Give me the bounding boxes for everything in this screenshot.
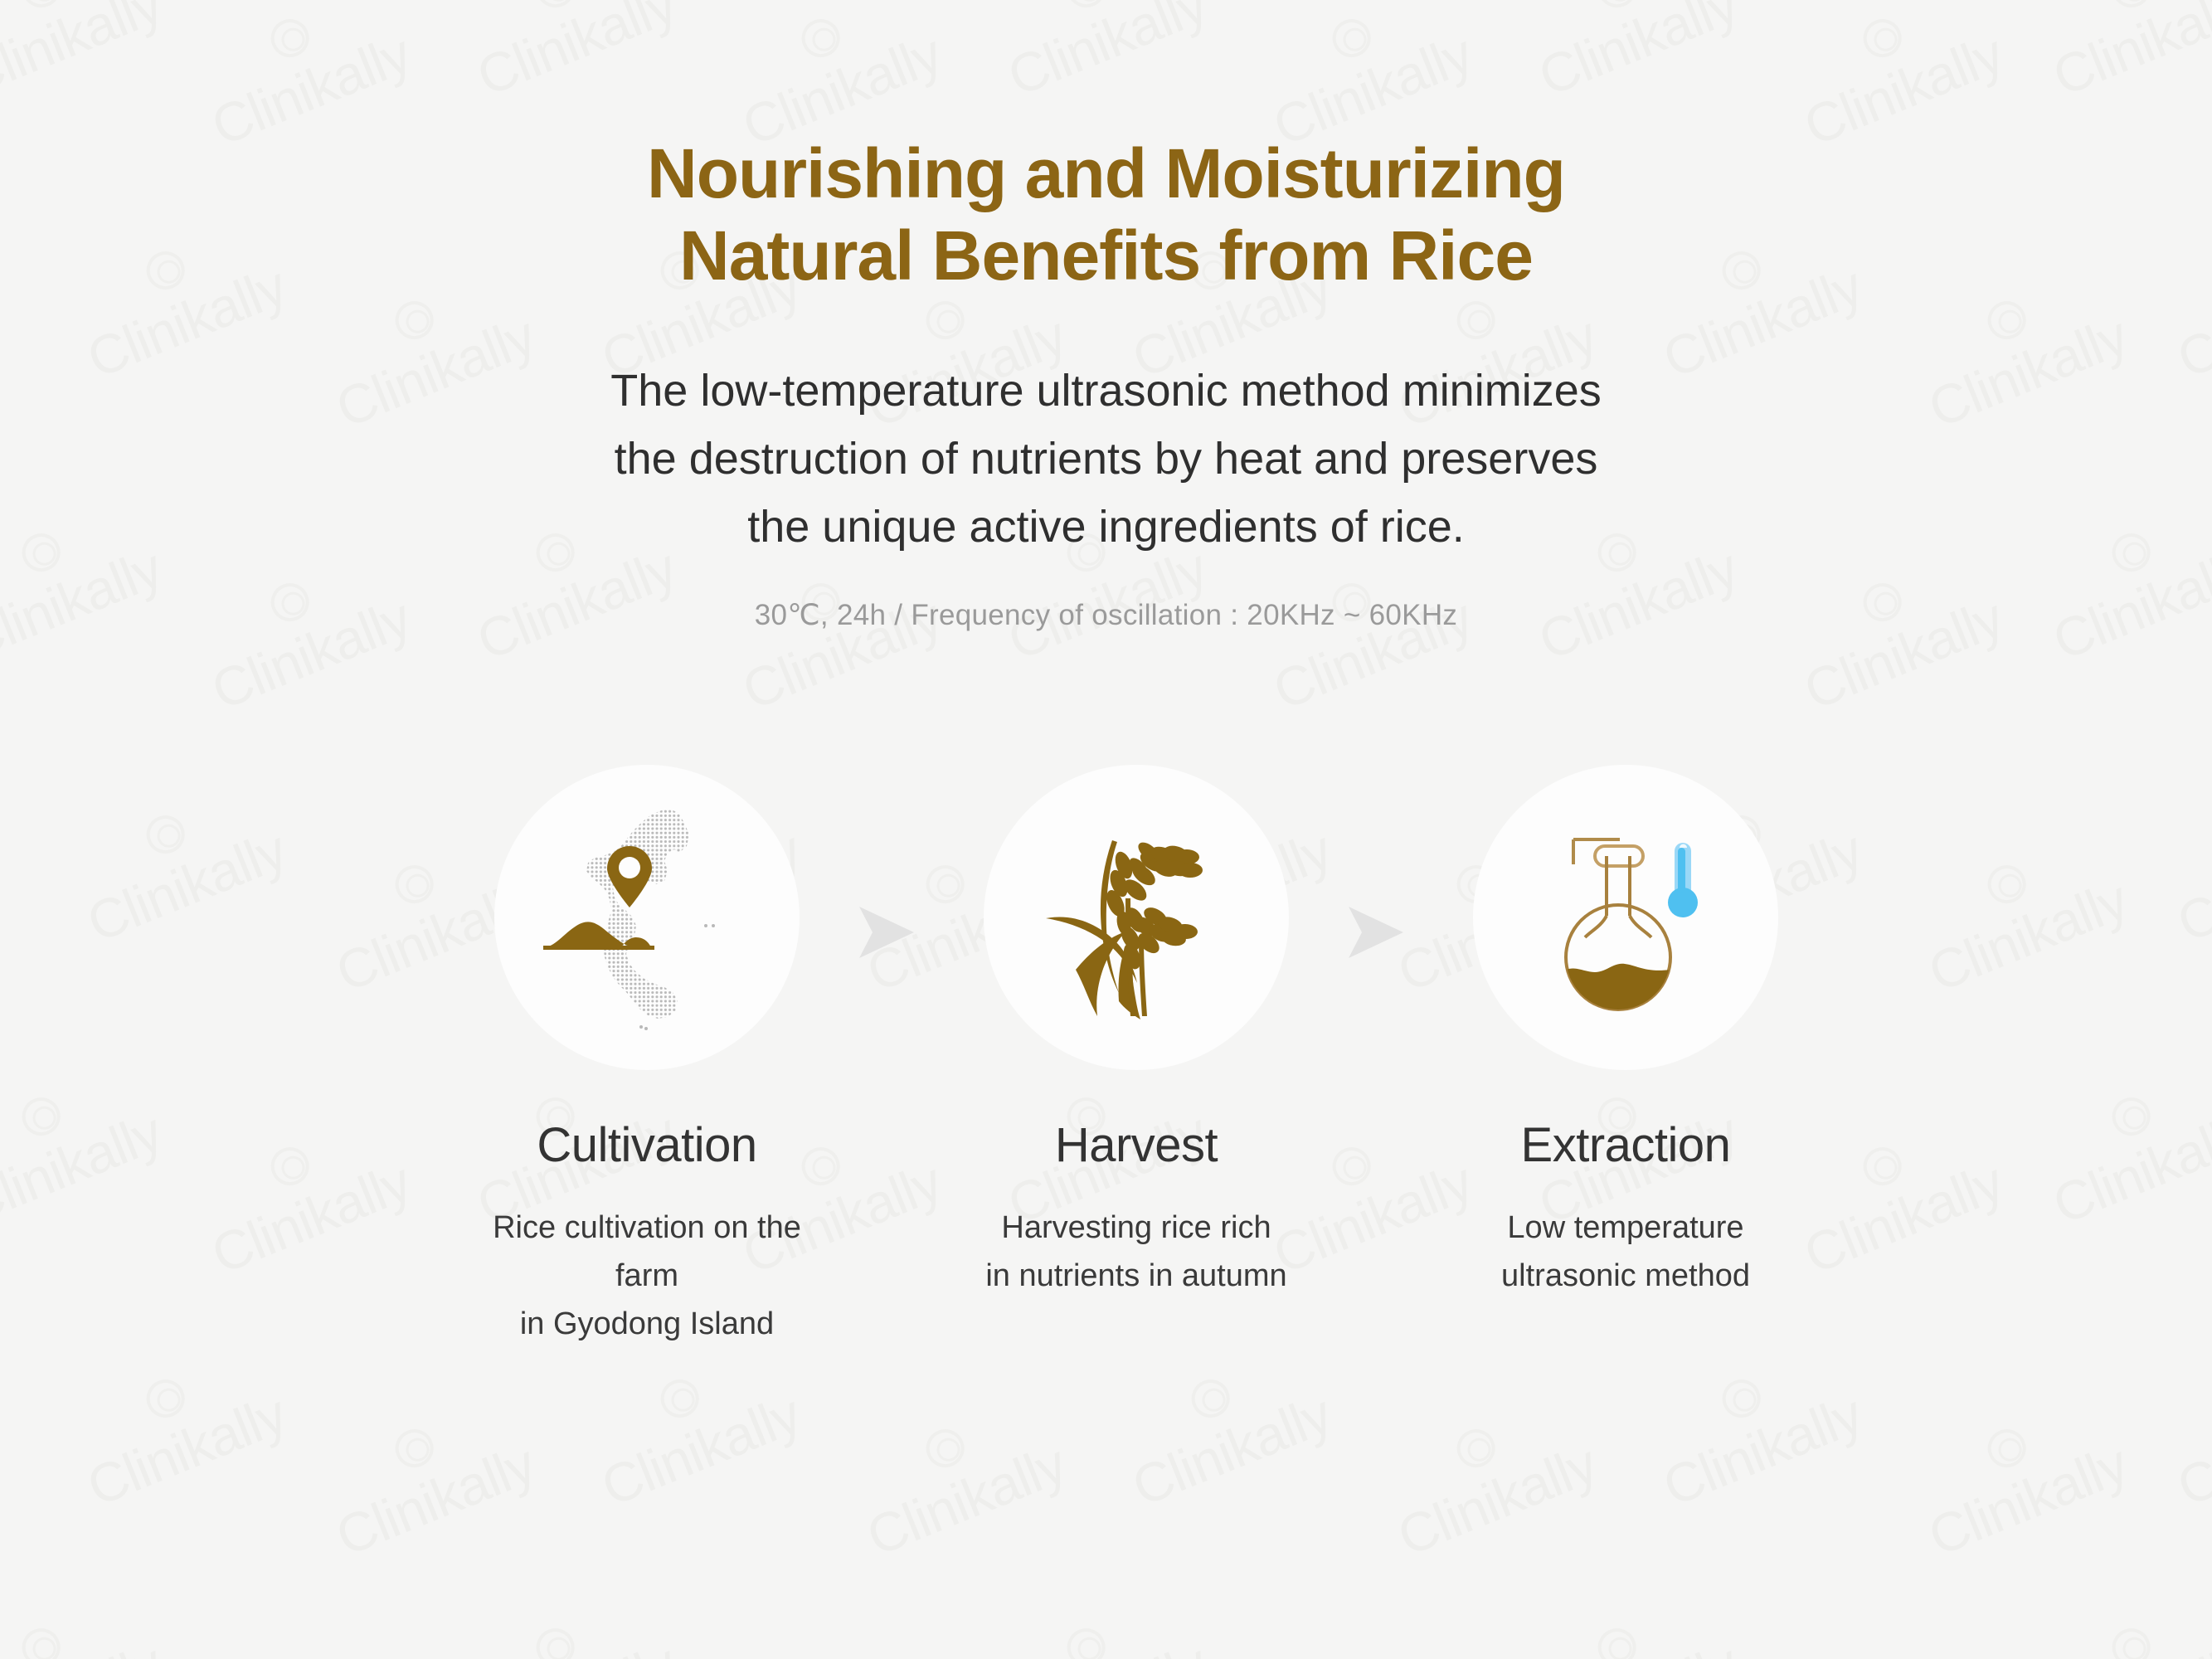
process-steps: Cultivation Rice cultivation on the farm… xyxy=(0,747,2212,1394)
step-description: Harvesting rice rich in nutrients in aut… xyxy=(954,1204,1319,1301)
step-description-line-2: in nutrients in autumn xyxy=(954,1253,1319,1301)
step-title: Extraction xyxy=(1443,1121,1808,1170)
process-spec-note: 30℃, 24h / Frequency of oscillation : 20… xyxy=(0,599,2212,632)
step-description: Rice cultivation on the farm in Gyodong … xyxy=(464,1204,829,1348)
korea-map-pin-icon xyxy=(543,801,751,1034)
step-icon-circle xyxy=(494,765,800,1070)
step-description-line-1: Harvesting rice rich xyxy=(954,1204,1319,1253)
step-description-line-2: ultrasonic method xyxy=(1443,1253,1808,1301)
page-description-line-2: the destruction of nutrients by heat and… xyxy=(0,425,2212,493)
step-title: Harvest xyxy=(954,1121,1319,1170)
step-title: Cultivation xyxy=(464,1121,829,1170)
step-description: Low temperature ultrasonic method xyxy=(1443,1204,1808,1301)
page-title-line-2: Natural Benefits from Rice xyxy=(0,215,2212,297)
infographic-page: ClinikallyClinikallyClinikallyClinikally… xyxy=(0,0,2212,1659)
rice-stalk-icon xyxy=(1033,814,1240,1021)
process-step-extraction: Extraction Low temperature ultrasonic me… xyxy=(1443,747,1808,1301)
page-title-line-1: Nourishing and Moisturizing xyxy=(0,133,2212,215)
content-root: Nourishing and Moisturizing Natural Bene… xyxy=(0,0,2212,1659)
step-icon-circle xyxy=(984,765,1289,1070)
page-description-line-3: the unique active ingredients of rice. xyxy=(0,493,2212,561)
page-description-line-1: The low-temperature ultrasonic method mi… xyxy=(0,357,2212,425)
page-title: Nourishing and Moisturizing Natural Bene… xyxy=(0,133,2212,297)
step-description-line-2: in Gyodong Island xyxy=(464,1301,829,1349)
flask-thermometer-icon xyxy=(1522,810,1729,1025)
arrow-right-icon xyxy=(1344,900,1408,965)
arrow-right-icon xyxy=(854,900,919,965)
process-step-harvest: Harvest Harvesting rice rich in nutrient… xyxy=(954,747,1319,1301)
step-description-line-1: Low temperature xyxy=(1443,1204,1808,1253)
step-icon-circle xyxy=(1473,765,1778,1070)
step-description-line-1: Rice cultivation on the farm xyxy=(464,1204,829,1301)
process-step-cultivation: Cultivation Rice cultivation on the farm… xyxy=(464,747,829,1348)
thermometer-glyph xyxy=(1668,843,1698,917)
page-description: The low-temperature ultrasonic method mi… xyxy=(0,357,2212,561)
